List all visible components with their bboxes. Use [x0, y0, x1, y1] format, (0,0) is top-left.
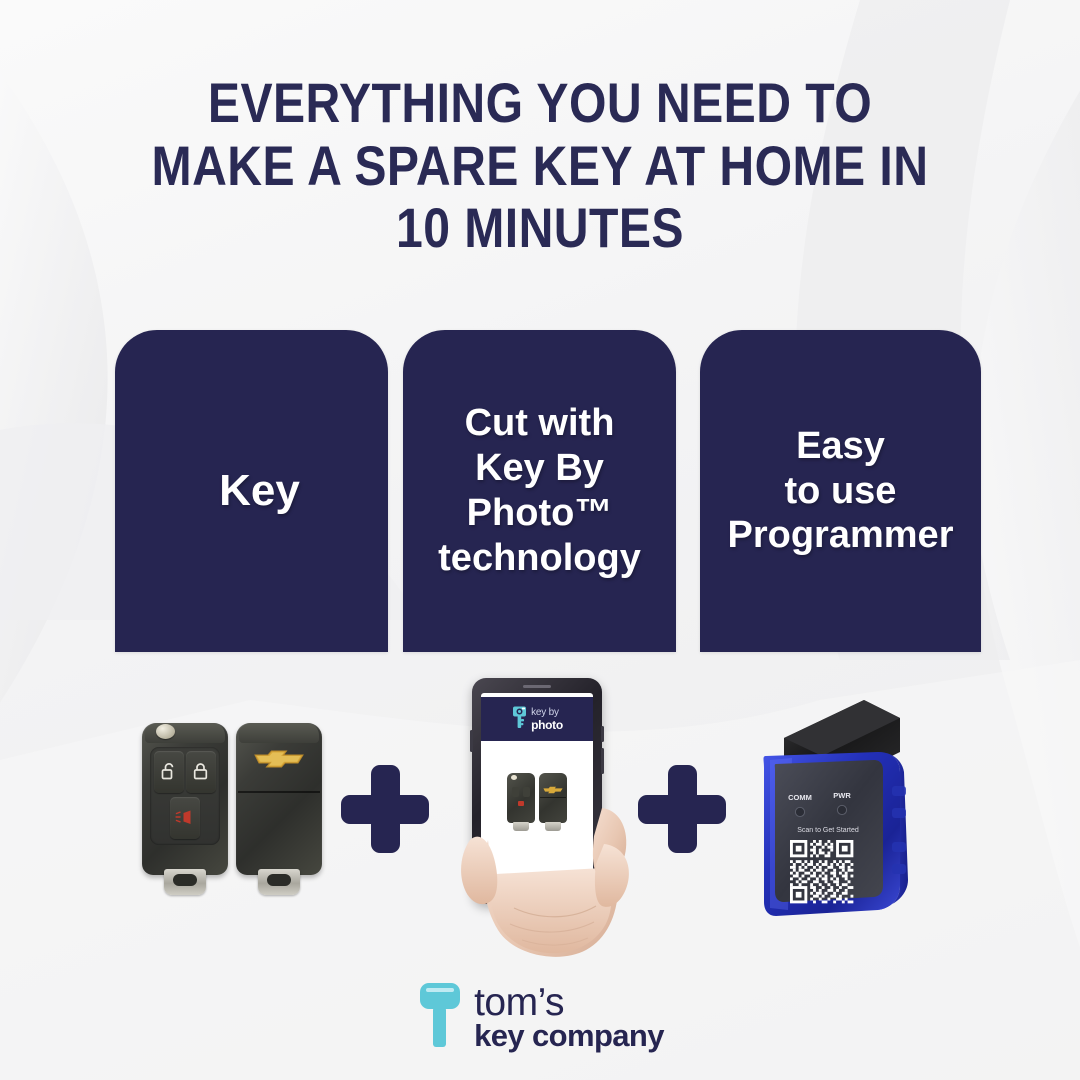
unlock-button [154, 751, 184, 793]
obd-caption: Scan to Get Started [797, 827, 859, 834]
brand-wordmark-line-1: tom’s [474, 983, 664, 1022]
brand-wordmark: tom’s key company [474, 983, 664, 1051]
phone-in-hand-image: key by photo [452, 668, 642, 960]
blade-release-button [156, 724, 175, 739]
plus-1-vertical-bar [371, 765, 400, 853]
card-2-line-4: technology [438, 536, 641, 581]
feature-card-programmer[interactable]: Easy to use Programmer [700, 330, 981, 652]
feature-card-key-label: Key [211, 465, 308, 517]
fob-back-body [236, 723, 322, 875]
feature-card-programmer-label: Easy to use Programmer [720, 424, 962, 558]
app-fob-lock-button [523, 787, 530, 797]
phone-volume-button [601, 726, 604, 742]
plus-icon-2 [638, 765, 726, 853]
card-1-line-1: Key [219, 465, 300, 517]
key-fob-pair-image [140, 715, 330, 900]
chevrolet-bowtie-icon [254, 749, 304, 774]
lock-button [186, 751, 216, 793]
toms-key-logo-icon [416, 981, 464, 1052]
card-2-line-1: Cut with [438, 401, 641, 446]
card-2-line-2: Key By [438, 446, 641, 491]
app-fob-front-body [507, 773, 535, 823]
page-title: EVERYTHING YOU NEED TO MAKE A SPARE KEY … [76, 72, 1005, 260]
obd-programmer-image: COMM PWR Scan to Get Started [752, 690, 967, 935]
panic-horn-icon [176, 810, 195, 830]
phone-earpiece [523, 685, 551, 688]
brand-wordmark-line-2: key company [474, 1020, 664, 1051]
phone-side-button-left [470, 730, 473, 752]
app-fob-front [507, 771, 535, 831]
key-by-photo-wordmark: key by photo [531, 708, 563, 731]
app-fob-release-button [511, 775, 517, 780]
phone-screen: key by photo [481, 693, 593, 891]
feature-card-key-by-photo-label: Cut with Key By Photo™ technology [430, 401, 649, 580]
app-fob-panic-button [518, 801, 524, 806]
lock-padlock-icon [194, 762, 209, 785]
product-row: key by photo [0, 660, 1080, 960]
app-key-fob-photo [507, 771, 567, 831]
led-label-comm: COMM [788, 793, 812, 802]
fob-back-key-blade [258, 869, 300, 895]
phone-power-button [601, 748, 604, 774]
plus-2-vertical-bar [668, 765, 697, 853]
smartphone: key by photo [472, 678, 602, 904]
key-fob-front [142, 715, 228, 895]
key-fob-back [236, 715, 322, 895]
feature-card-key-by-photo[interactable]: Cut with Key By Photo™ technology [403, 330, 676, 652]
feature-cards: Key Cut with Key By Photo™ technology Ea… [0, 330, 1080, 652]
fob-button-panel [150, 747, 220, 845]
app-fob-back [539, 771, 567, 831]
feature-card-key[interactable]: Key [115, 330, 388, 652]
key-by-photo-app-header: key by photo [481, 697, 593, 741]
app-fob-unlock-button [512, 787, 519, 797]
plus-icon-1 [341, 765, 429, 853]
app-logo-line-1: key by [531, 708, 563, 718]
brand-logo[interactable]: tom’s key company [0, 981, 1080, 1052]
app-fob-back-seam [540, 797, 566, 798]
card-2-line-3: Photo™ [438, 491, 641, 536]
panic-button [170, 797, 200, 839]
card-3-line-2: to use [728, 469, 954, 514]
app-fob-front-blade [513, 822, 529, 831]
key-by-photo-logo-icon [511, 705, 528, 734]
fob-front-key-blade [164, 869, 206, 895]
card-3-line-3: Programmer [728, 513, 954, 558]
headline-line-2: MAKE A SPARE KEY AT HOME IN [76, 135, 1005, 198]
app-fob-back-blade [545, 822, 561, 831]
card-3-line-1: Easy [728, 424, 954, 469]
app-logo-line-2: photo [531, 719, 563, 731]
led-label-pwr: PWR [833, 791, 851, 800]
obd-qr-code [790, 840, 853, 903]
unlock-padlock-icon [162, 762, 177, 785]
fob-back-seam [238, 791, 320, 793]
headline-line-3: 10 MINUTES [76, 197, 1005, 260]
fob-back-top-panel [239, 723, 319, 743]
headline-line-1: EVERYTHING YOU NEED TO [76, 72, 1005, 135]
